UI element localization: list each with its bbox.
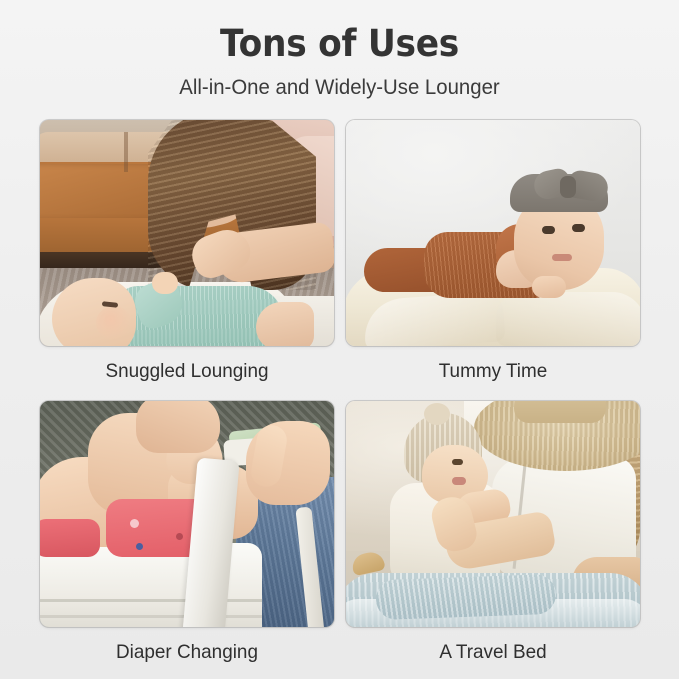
caption-diaper-changing: Diaper Changing [44,627,329,664]
diaper-snap-dark [176,533,183,540]
headband-bow-knot [560,176,576,198]
lounger-fold-right [496,292,640,346]
caption-snuggled-lounging: Snuggled Lounging [44,346,329,383]
baby-mouth [452,477,466,485]
straw-hat-crown [514,401,606,423]
bonnet-pompom [424,403,450,425]
adult-hand-top [136,401,220,453]
page-title: Tons of Uses [24,0,655,66]
product-infographic: Tons of Uses All-in-One and Widely-Use L… [0,0,679,679]
use-case-grid: Snuggled Lounging [40,120,640,664]
page-subtitle: All-in-One and Widely-Use Lounger [10,66,669,101]
baby-leg [256,302,314,346]
mattress-seam-lower [40,615,262,618]
baby-hand [532,276,566,298]
photo-a-travel-bed [346,401,640,627]
baby-hand [152,272,178,294]
use-case-card-a-travel-bed: A Travel Bed [346,401,640,664]
travel-blanket-roll [375,574,556,620]
diaper-snap-light [130,519,139,528]
mattress-seam-upper [40,599,262,602]
baby-mouth [552,254,572,261]
baby-eye-left [542,226,555,234]
cloth-diaper-side [40,519,100,557]
couch-cushion-left [40,164,162,220]
couch-seam [124,132,128,172]
photo-diaper-changing [40,401,334,627]
baby-eye [452,459,463,465]
use-case-card-snuggled-lounging: Snuggled Lounging [40,120,334,383]
photo-tummy-time [346,120,640,346]
diaper-snap-blue [136,543,143,550]
photo-snuggled-lounging [40,120,334,346]
baby-eye-right [572,224,585,232]
baby-cheek [96,306,132,340]
use-case-card-tummy-time: Tummy Time [346,120,640,383]
caption-tummy-time: Tummy Time [350,346,635,383]
caption-a-travel-bed: A Travel Bed [350,627,635,664]
use-case-card-diaper-changing: Diaper Changing [40,401,334,664]
header: Tons of Uses All-in-One and Widely-Use L… [0,0,679,101]
